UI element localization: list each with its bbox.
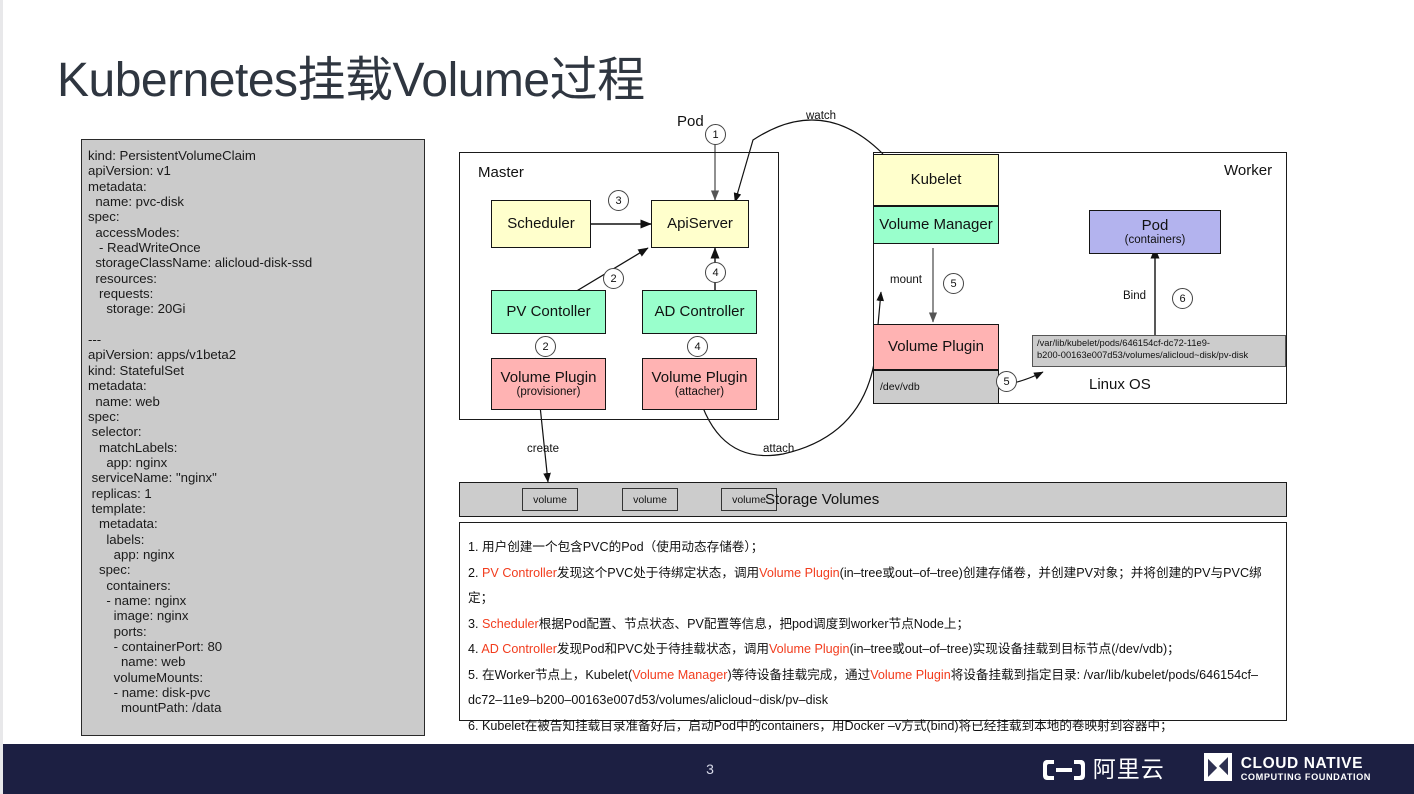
yaml-line: - containerPort: 80	[88, 639, 424, 654]
yaml-line: requests:	[88, 286, 424, 301]
description-item: 2. PV Controller发现这个PVC处于待绑定状态，调用Volume …	[468, 561, 1278, 612]
description-item: 3. Scheduler根据Pod配置、节点状态、PV配置等信息，把pod调度到…	[468, 612, 1278, 638]
yaml-line: - ReadWriteOnce	[88, 240, 424, 255]
volume-manager-node: Volume Manager	[873, 206, 999, 244]
yaml-line: kind: StatefulSet	[88, 363, 424, 378]
step-badge-5b: 5	[996, 371, 1017, 392]
volume-plugin-worker-node: Volume Plugin	[873, 324, 999, 370]
bind-edge-label: Bind	[1123, 290, 1146, 302]
mount-path-chip: /var/lib/kubelet/pods/646154cf-dc72-11e9…	[1032, 335, 1286, 367]
pv-controller-node: PV Contoller	[491, 290, 606, 334]
storage-volumes-bar: volume volume volume Storage Volumes	[459, 482, 1287, 517]
yaml-line: metadata:	[88, 378, 424, 393]
highlighted-term: PV Controller	[482, 566, 557, 580]
description-text: 3.	[468, 617, 482, 631]
attach-edge-label: attach	[763, 443, 794, 455]
yaml-line: labels:	[88, 532, 424, 547]
description-item: 6. Kubelet在被告知挂载目录准备好后，启动Pod中的containers…	[468, 714, 1278, 740]
yaml-line: apiVersion: v1	[88, 163, 424, 178]
watch-edge-label: watch	[806, 110, 836, 122]
highlighted-term: Volume Manager	[632, 668, 727, 682]
yaml-line: ports:	[88, 624, 424, 639]
description-text: 1. 用户创建一个包含PVC的Pod（使用动态存储卷）；	[468, 540, 763, 554]
yaml-line	[88, 317, 424, 332]
yaml-line: name: pvc-disk	[88, 194, 424, 209]
yaml-line: replicas: 1	[88, 486, 424, 501]
yaml-line: mountPath: /data	[88, 700, 424, 715]
highlighted-term: Scheduler	[482, 617, 539, 631]
steps-description-panel: 1. 用户创建一个包含PVC的Pod（使用动态存储卷）；2. PV Contro…	[459, 522, 1287, 721]
step-badge-5: 5	[943, 273, 964, 294]
step-badge-4: 4	[705, 262, 726, 283]
volume-plugin-provisioner-node: Volume Plugin (provisioner)	[491, 358, 606, 410]
yaml-line: spec:	[88, 209, 424, 224]
cncf-line-2: COMPUTING FOUNDATION	[1241, 773, 1371, 782]
description-item: 5. 在Worker节点上，Kubelet(Volume Manager)等待设…	[468, 663, 1278, 714]
storage-volumes-label: Storage Volumes	[765, 491, 879, 508]
description-text: )等待设备挂载完成，通过	[727, 668, 870, 682]
yaml-line: volumeMounts:	[88, 670, 424, 685]
mount-edge-label: mount	[890, 274, 922, 286]
apiserver-node: ApiServer	[651, 200, 749, 248]
ad-controller-node: AD Controller	[642, 290, 757, 334]
description-text: 6. Kubelet在被告知挂载目录准备好后，启动Pod中的containers…	[468, 719, 1173, 733]
slide-footer: 3 阿里云	[3, 744, 1414, 794]
yaml-line: containers:	[88, 578, 424, 593]
volume-plugin-worker-label: Volume Plugin	[888, 338, 984, 355]
pod-label: Pod	[1142, 217, 1169, 234]
highlighted-term: AD Controller	[481, 642, 557, 656]
pod-sublabel: (containers)	[1125, 234, 1186, 247]
volume-chip: volume	[522, 488, 578, 511]
step-badge-2: 2	[603, 268, 624, 289]
dev-vdb-label: /dev/vdb	[880, 381, 920, 393]
yaml-line: spec:	[88, 562, 424, 577]
apiserver-label: ApiServer	[667, 215, 733, 232]
yaml-line: template:	[88, 501, 424, 516]
step-badge-4b: 4	[687, 336, 708, 357]
yaml-line: app: nginx	[88, 455, 424, 470]
cncf-logo: CLOUD NATIVE COMPUTING FOUNDATION	[1203, 752, 1371, 787]
description-text: 发现这个PVC处于待绑定状态，调用	[557, 566, 759, 580]
kubelet-label: Kubelet	[911, 171, 962, 188]
architecture-diagram: Pod 1 watch Master Scheduler 3 ApiServer…	[443, 96, 1303, 526]
step-badge-6: 6	[1172, 288, 1193, 309]
yaml-manifest-panel: kind: PersistentVolumeClaimapiVersion: v…	[81, 139, 425, 736]
highlighted-term: Volume Plugin	[870, 668, 951, 682]
yaml-line: storageClassName: alicloud-disk-ssd	[88, 255, 424, 270]
create-edge-label: create	[527, 443, 559, 455]
footer-logos: 阿里云 CLOUD NATIVE COMPUTING FOUNDATION	[1042, 744, 1371, 794]
yaml-line: spec:	[88, 409, 424, 424]
steps-description-list: 1. 用户创建一个包含PVC的Pod（使用动态存储卷）；2. PV Contro…	[468, 535, 1278, 739]
yaml-line: metadata:	[88, 516, 424, 531]
volume-plugin-attacher-label: Volume Plugin	[652, 369, 748, 386]
yaml-line: image: nginx	[88, 608, 424, 623]
slide-canvas: Kubernetes挂载Volume过程 kind: PersistentVol…	[0, 0, 1414, 794]
yaml-lines: kind: PersistentVolumeClaimapiVersion: v…	[88, 148, 424, 716]
yaml-line: selector:	[88, 424, 424, 439]
scheduler-node: Scheduler	[491, 200, 591, 248]
description-text: 发现Pod和PVC处于待挂载状态，调用	[557, 642, 769, 656]
pod-source-label: Pod	[677, 113, 704, 130]
volume-plugin-provisioner-sublabel: (provisioner)	[517, 386, 581, 399]
yaml-line: kind: PersistentVolumeClaim	[88, 148, 424, 163]
yaml-line: name: web	[88, 394, 424, 409]
highlighted-term: Volume Plugin	[759, 566, 840, 580]
description-item: 1. 用户创建一个包含PVC的Pod（使用动态存储卷）；	[468, 535, 1278, 561]
volume-plugin-provisioner-label: Volume Plugin	[501, 369, 597, 386]
alibaba-cloud-wordmark: 阿里云	[1093, 758, 1165, 781]
yaml-line: apiVersion: apps/v1beta2	[88, 347, 424, 362]
yaml-line: ---	[88, 332, 424, 347]
yaml-line: storage: 20Gi	[88, 301, 424, 316]
step-badge-1: 1	[705, 124, 726, 145]
volume-manager-label: Volume Manager	[879, 216, 992, 233]
description-text: 2.	[468, 566, 482, 580]
kubelet-node: Kubelet	[873, 154, 999, 206]
pv-controller-label: PV Contoller	[506, 303, 590, 320]
description-item: 4. AD Controller发现Pod和PVC处于待挂载状态，调用Volum…	[468, 637, 1278, 663]
yaml-line: accessModes:	[88, 225, 424, 240]
cncf-wordmark: CLOUD NATIVE COMPUTING FOUNDATION	[1241, 756, 1371, 783]
master-title: Master	[478, 164, 524, 181]
description-text: 4.	[468, 642, 481, 656]
yaml-line: name: web	[88, 654, 424, 669]
cncf-line-1: CLOUD NATIVE	[1241, 756, 1371, 772]
yaml-line: - name: nginx	[88, 593, 424, 608]
yaml-line: - name: disk-pvc	[88, 685, 424, 700]
linux-os-label: Linux OS	[1089, 376, 1151, 393]
yaml-line: resources:	[88, 271, 424, 286]
pod-containers-node: Pod (containers)	[1089, 210, 1221, 254]
volume-plugin-attacher-sublabel: (attacher)	[675, 386, 724, 399]
description-text: 根据Pod配置、节点状态、PV配置等信息，把pod调度到worker节点Node…	[539, 617, 969, 631]
description-text: (in–tree或out–of–tree)实现设备挂载到目标节点(/dev/vd…	[849, 642, 1179, 656]
description-text: 5. 在Worker节点上，Kubelet(	[468, 668, 632, 682]
step-badge-3: 3	[608, 190, 629, 211]
volume-plugin-attacher-node: Volume Plugin (attacher)	[642, 358, 757, 410]
yaml-line: matchLabels:	[88, 440, 424, 455]
volume-chip: volume	[622, 488, 678, 511]
alibaba-cloud-logo: 阿里云	[1042, 758, 1165, 781]
highlighted-term: Volume Plugin	[769, 642, 850, 656]
alibaba-cloud-mark-icon	[1042, 758, 1086, 780]
yaml-line: metadata:	[88, 179, 424, 194]
cncf-mark-icon	[1203, 752, 1233, 787]
worker-title: Worker	[1224, 162, 1272, 179]
yaml-line: serviceName: "nginx"	[88, 470, 424, 485]
dev-vdb-node: /dev/vdb	[873, 370, 999, 404]
ad-controller-label: AD Controller	[654, 303, 744, 320]
step-badge-2b: 2	[535, 336, 556, 357]
yaml-line: app: nginx	[88, 547, 424, 562]
scheduler-label: Scheduler	[507, 215, 575, 232]
